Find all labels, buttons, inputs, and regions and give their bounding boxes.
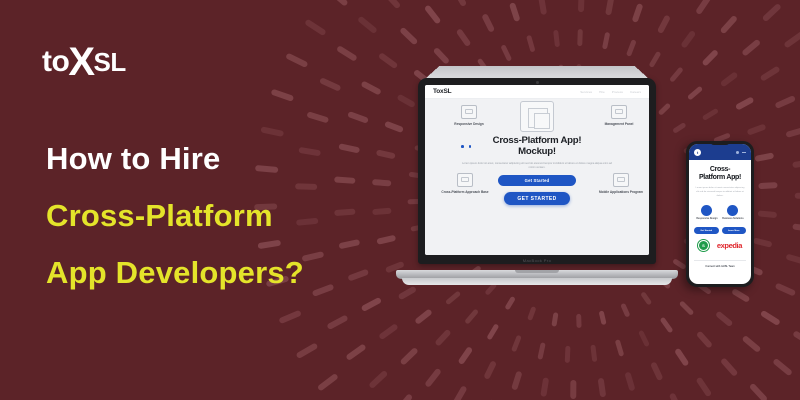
hero-paragraph: Lorem ipsum dolor sit amet, consectetur … xyxy=(462,162,612,171)
monitor-icon xyxy=(461,105,477,119)
phone-title-line-1: Cross- xyxy=(710,166,730,173)
panel-icon xyxy=(611,105,627,119)
phone-button-row: Get Started Learn More xyxy=(694,227,746,234)
menu-icon[interactable] xyxy=(736,151,746,154)
phone-brand-row: S expedia xyxy=(694,240,746,251)
mock-site-nav: Services Hire Process Careers xyxy=(580,90,641,94)
phone-feature-label: Business Solutions xyxy=(722,218,743,221)
power-icon xyxy=(613,173,629,187)
brand-badge-icon: S xyxy=(698,240,709,251)
phone-mockup: t Cross- Platform App! Lorem ipsum dolor… xyxy=(686,141,754,287)
get-started-button[interactable]: Get Started xyxy=(498,175,576,186)
burger-line xyxy=(742,152,746,153)
hero-window-icon xyxy=(520,101,554,132)
expedia-wordmark: expedia xyxy=(717,241,742,250)
headline-line-1: How to Hire xyxy=(46,143,386,174)
nav-item-careers[interactable]: Careers xyxy=(630,90,641,94)
nav-item-hire[interactable]: Hire xyxy=(599,90,605,94)
hero-title: Cross-Platform App! Mockup! xyxy=(462,135,612,158)
laptop-lid: ToxSL Services Hire Process Careers Resp… xyxy=(418,78,656,264)
phone-feature-label: Responsive Design xyxy=(696,218,717,221)
phone-feature-2: Business Solutions xyxy=(722,205,743,221)
phone-paragraph: Lorem ipsum dolor sit amet consectetur a… xyxy=(694,186,746,199)
headline-line-3: App Developers? xyxy=(46,257,386,288)
phone-title-line-2: Platform App! xyxy=(699,174,741,181)
phone-learn-more-button[interactable]: Learn More xyxy=(722,227,747,234)
nav-item-services[interactable]: Services xyxy=(580,90,592,94)
logo-text-x: X xyxy=(68,42,94,82)
nav-item-process[interactable]: Process xyxy=(612,90,623,94)
mock-site-body: Responsive Design Management Panel Cross… xyxy=(425,99,649,255)
phone-app-body: Cross- Platform App! Lorem ipsum dolor s… xyxy=(689,160,751,274)
phone-notch xyxy=(710,141,730,145)
feature-management-panel: Management Panel xyxy=(593,105,645,126)
logo-text-sl: SL xyxy=(94,49,126,75)
webcam-icon xyxy=(536,81,539,84)
hero-title-line-1: Cross-Platform App! xyxy=(493,135,582,146)
phone-title: Cross- Platform App! xyxy=(694,166,746,182)
laptop-keyboard xyxy=(426,66,648,78)
circle-icon xyxy=(727,205,738,216)
mock-hero: Cross-Platform App! Mockup! Lorem ipsum … xyxy=(462,135,612,205)
laptop-foot xyxy=(402,278,672,285)
phone-app-header: t xyxy=(689,144,751,160)
phone-feature-row: Responsive Design Business Solutions xyxy=(694,205,746,221)
hero-title-line-2: Mockup! xyxy=(518,146,556,157)
feature-responsive-design: Responsive Design xyxy=(443,105,495,126)
dot-glyph xyxy=(736,151,739,154)
mock-site-logo: ToxSL xyxy=(433,88,451,95)
phone-feature-1: Responsive Design xyxy=(696,205,717,221)
laptop-mockup: ToxSL Services Hire Process Careers Resp… xyxy=(396,78,678,293)
feature-label: Management Panel xyxy=(593,122,645,126)
phone-footer-text: Connect with toXSL Team xyxy=(694,260,746,268)
headline-line-2: Cross-Platform xyxy=(46,200,386,231)
circle-icon xyxy=(701,205,712,216)
laptop-screen: ToxSL Services Hire Process Careers Resp… xyxy=(425,85,649,255)
phone-logo-icon: t xyxy=(694,149,701,156)
banner-root: toXSL How to Hire Cross-Platform App Dev… xyxy=(0,0,800,400)
laptop-brand-label: MacBook Pro xyxy=(418,258,656,263)
toxsl-logo: toXSL xyxy=(42,38,126,78)
mock-site-header: ToxSL Services Hire Process Careers xyxy=(425,85,649,99)
headline-block: How to Hire Cross-Platform App Developer… xyxy=(46,143,386,288)
phone-get-started-button[interactable]: Get Started xyxy=(694,227,719,234)
get-started-secondary-button[interactable]: GET STARTED xyxy=(504,192,570,205)
feature-label: Responsive Design xyxy=(443,122,495,126)
logo-text-to: to xyxy=(42,47,69,77)
phone-screen: t Cross- Platform App! Lorem ipsum dolor… xyxy=(689,144,751,284)
